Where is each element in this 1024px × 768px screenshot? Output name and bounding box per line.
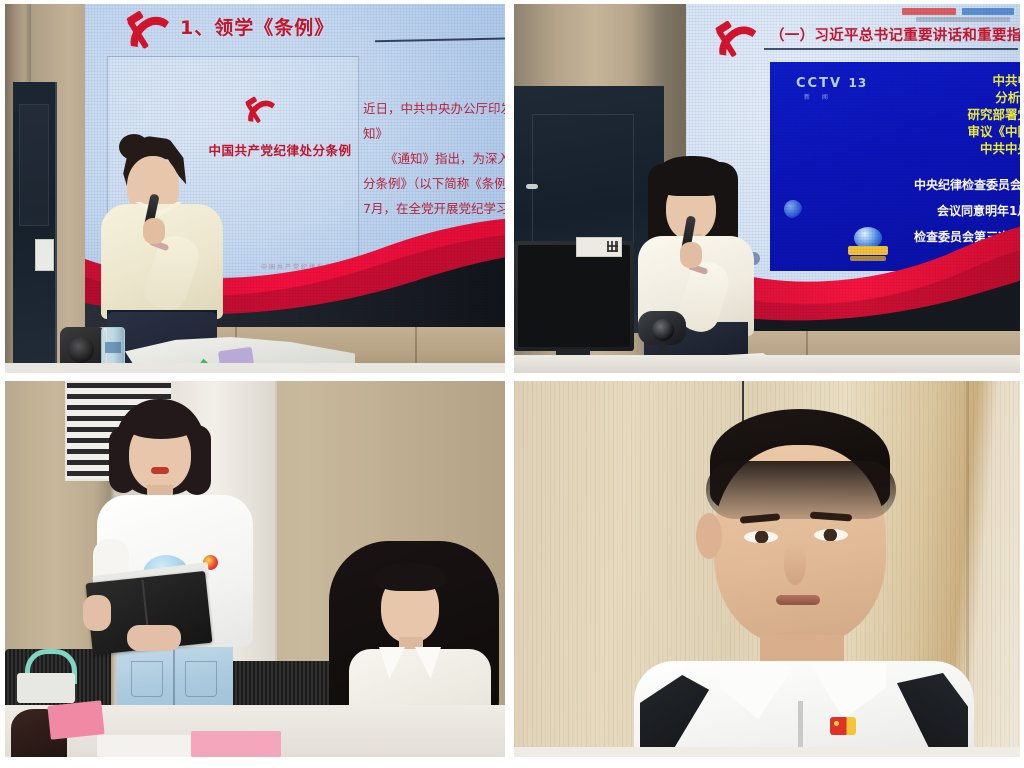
lips [151, 467, 169, 474]
lens-flare [784, 200, 802, 218]
floor-edge [514, 747, 1020, 757]
hand [680, 242, 702, 268]
jeans-pocket-right [185, 661, 217, 697]
standing-reader-person [93, 399, 263, 729]
collage-panel-top-left: 1、领学《条例》 中国共产党纪律处分条例 中国共产党纪律处分条例 近日，中共中央… [5, 4, 505, 373]
slide-body-line: 《通知》指出，为深入学 [363, 146, 505, 171]
toolbar-chip [962, 8, 1014, 15]
collage-panel-bottom-right [514, 381, 1020, 757]
cctv-headline-line: 中共中央政治局 [856, 72, 1020, 89]
eye-left [744, 531, 778, 543]
hand-left [83, 595, 111, 631]
cctv-headline-line: 分析研究2024 [856, 89, 1020, 106]
asset-label [576, 237, 622, 257]
monitor-screen [518, 245, 630, 347]
hair-fringe [375, 563, 445, 591]
qr-code-icon [607, 241, 618, 252]
photo-collage: 1、领学《条例》 中国共产党纪律处分条例 中国共产党纪律处分条例 近日，中共中央… [0, 0, 1024, 768]
room-door [13, 82, 57, 373]
national-flag-pin [830, 717, 856, 735]
slide-body-line: 分条例》（以下简称《条例》 [363, 171, 505, 196]
eye-right [814, 529, 848, 541]
cctv-wordmark: CCTV [796, 76, 842, 91]
ear [696, 513, 722, 559]
hair-fringe [125, 413, 197, 439]
slide-body-line: 近日，中共中央办公厅印发了 [363, 96, 505, 121]
collage-panel-top-right: （一）习近平总书记重要讲话和重要指示批示精神 CCTV 13 新 闻 中共中央政… [514, 4, 1020, 373]
cctv-headline-line: 中共中央总书记习 [856, 140, 1020, 157]
hairline [706, 461, 896, 519]
speaker-box [60, 327, 106, 367]
webcam-lens [652, 319, 674, 341]
pink-folder [47, 700, 104, 739]
cctv-headline-line: 审议《中国共产党纪 [856, 123, 1020, 140]
toolbar-chip [916, 17, 1010, 22]
collage-panel-bottom-left [5, 381, 505, 757]
slide-body-text: 近日，中共中央办公厅印发了 知》 《通知》指出，为深入学 分条例》（以下简称《条… [363, 96, 505, 221]
hand-right [127, 625, 181, 651]
cctv-body-line: 中央纪律检查委员会第三次全 [810, 172, 1020, 198]
slide-app-toolbar [866, 6, 1016, 22]
nose [784, 543, 806, 585]
door-handle [526, 184, 538, 189]
hair-top [656, 156, 728, 196]
desk-edge [514, 355, 1020, 373]
jeans-pocket-left [131, 661, 163, 697]
computer-monitor [514, 241, 634, 351]
desk-edge [5, 363, 505, 373]
slide-heading-rule [375, 36, 505, 43]
door-sign [35, 239, 54, 271]
slide-heading: （一）习近平总书记重要讲话和重要指示批示精神 [770, 24, 1020, 45]
slide-body-line: 知》 [363, 121, 505, 146]
bag-body [17, 673, 75, 703]
toolbar-chip [902, 8, 956, 15]
slide-heading: 1、领学《条例》 [180, 13, 334, 40]
tote-bag [17, 649, 75, 701]
party-emblem-icon [119, 6, 179, 60]
party-emblem-icon [240, 92, 282, 132]
participant-portrait-person [634, 409, 974, 757]
cctv-headline-line: 研究部署党风廉政建 [856, 106, 1020, 123]
pink-folder [191, 731, 281, 757]
slide-heading-rule [764, 48, 1018, 50]
mouth [776, 595, 820, 605]
cctv-channel-subtitle: 新 闻 [804, 92, 833, 101]
party-emblem-icon [708, 16, 766, 68]
webcam-icon [638, 311, 686, 357]
cctv-headline-block: 中共中央政治局 分析研究2024 研究部署党风廉政建 审议《中国共产党纪 中共中… [856, 72, 1020, 157]
hand [143, 218, 165, 244]
